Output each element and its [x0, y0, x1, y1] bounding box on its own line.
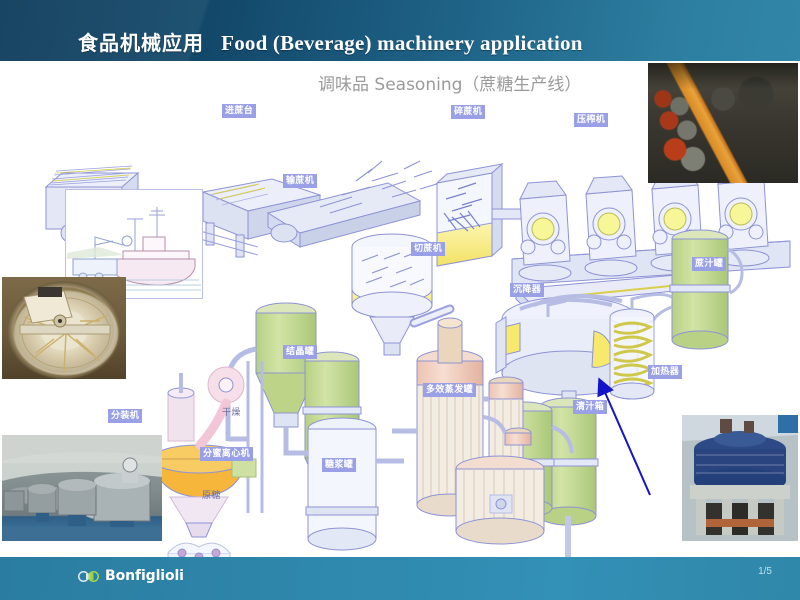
brand-logo: Bonfiglioli: [78, 568, 184, 584]
page-title: 食品机械应用 Food (Beverage) machinery applica…: [78, 27, 583, 56]
label-cane-juice-tank: 蔗汁罐: [692, 257, 726, 271]
slide: 食品机械应用 Food (Beverage) machinery applica…: [0, 0, 800, 600]
diagram-canvas: 调味品 Seasoning（蔗糖生产线）: [0, 61, 800, 557]
slide-header: 食品机械应用 Food (Beverage) machinery applica…: [0, 0, 800, 61]
photo-cooling-tower: [682, 415, 798, 541]
page-title-cn: 食品机械应用: [78, 31, 204, 55]
label-multi-effect-evap: 多效蒸发罐: [423, 383, 476, 397]
label-packing-machine: 分装机: [108, 409, 142, 423]
label-drying: 干燥: [219, 406, 244, 420]
page-title-en: Food (Beverage) machinery application: [221, 31, 582, 55]
extractor-drum-overlay: [2, 277, 126, 379]
press-mill-sketch: [512, 166, 790, 315]
label-raw-sugar: 原糖: [199, 489, 224, 503]
label-clear-juice-box: 清汁箱: [573, 400, 607, 414]
cooling-tower-overlay: [682, 415, 798, 541]
label-cane-shredder: 碎蔗机: [451, 105, 485, 119]
label-clarifier-settler: 沉降器: [510, 283, 544, 297]
centrifuge-row-overlay: [2, 435, 162, 541]
label-heater: 加热器: [648, 365, 682, 379]
brand-name: Bonfiglioli: [105, 568, 184, 584]
label-centrifugal-separator: 分蜜离心机: [200, 447, 253, 461]
label-cane-press-mill: 压榨机: [574, 113, 608, 127]
label-crystallizer-tank: 结晶罐: [283, 345, 317, 359]
label-cane-feed-table: 进蔗台: [222, 104, 256, 118]
photo-sugar-extractor-drum: [2, 277, 126, 379]
label-cane-cutter: 切蔗机: [411, 242, 445, 256]
bonfiglioli-logo-icon: [78, 569, 100, 584]
photo-factory-gearbox-hall: [648, 63, 798, 183]
photo-centrifuge-row: [2, 435, 162, 541]
label-syrup-tank: 糖浆罐: [322, 458, 356, 472]
page-number: 1/5: [758, 566, 772, 577]
crystallizer-sketch: [228, 303, 404, 550]
label-cane-conveyor: 输蔗机: [283, 174, 317, 188]
